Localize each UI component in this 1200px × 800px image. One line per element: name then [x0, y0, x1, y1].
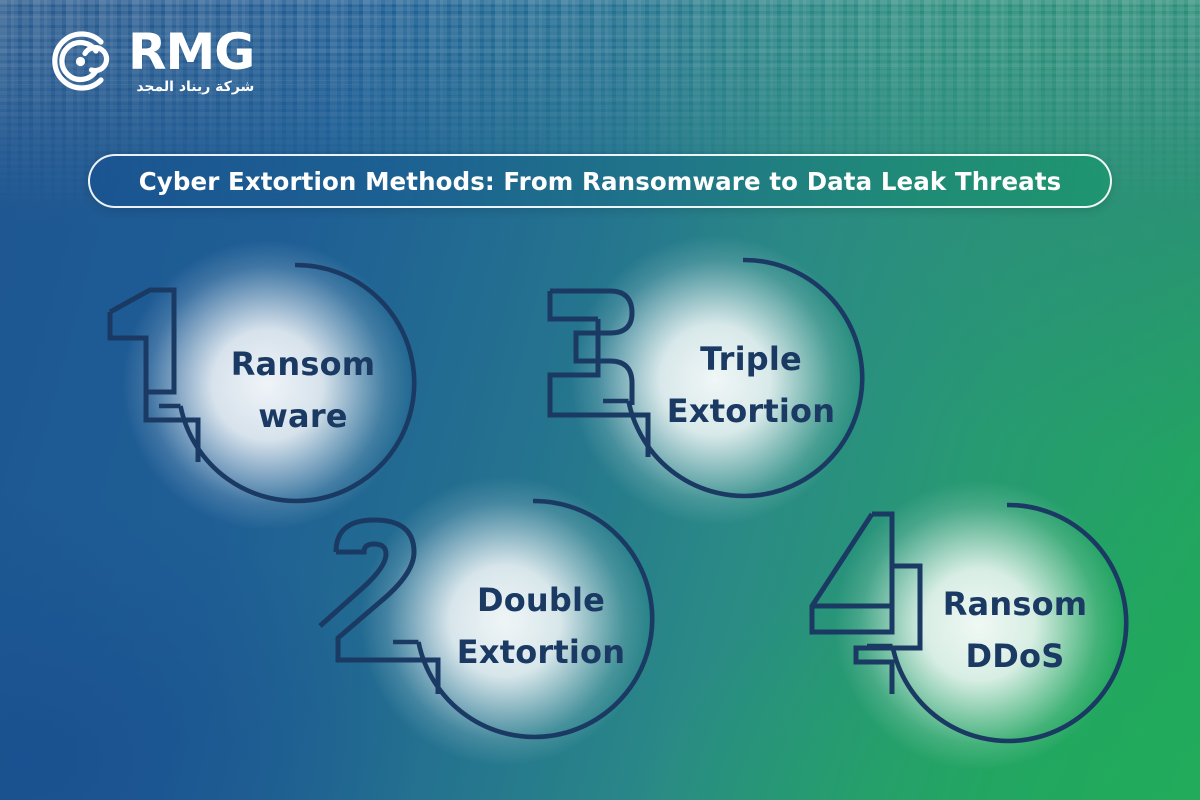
node-label-line: ware: [258, 391, 347, 443]
node-label-1: Ransom ware: [178, 316, 428, 466]
rmg-spiral-logo-icon: [44, 26, 114, 96]
node-label-line: Extortion: [457, 627, 625, 679]
logo-wordmark: RMG: [128, 27, 254, 77]
node-ransom-ddos: Ransom DDoS: [862, 498, 1162, 768]
logo-arabic-subtitle: شركة ريناد المجد: [136, 78, 254, 96]
node-label-2: Double Extortion: [416, 552, 666, 702]
node-label-line: Ransom: [231, 339, 376, 391]
node-label-line: Triple: [700, 334, 802, 386]
infographic-canvas: RMG شركة ريناد المجد Cyber Extortion Met…: [0, 0, 1200, 800]
node-label-line: Ransom: [943, 579, 1088, 631]
logo-text-block: RMG شركة ريناد المجد: [128, 27, 254, 96]
title-banner: Cyber Extortion Methods: From Ransomware…: [88, 154, 1112, 208]
node-label-3: Triple Extortion: [626, 311, 876, 461]
node-label-line: Extortion: [667, 386, 835, 438]
node-label-line: Double: [477, 575, 605, 627]
node-triple-extortion: Triple Extortion: [598, 253, 898, 523]
brand-logo: RMG شركة ريناد المجد: [44, 26, 254, 96]
page-title: Cyber Extortion Methods: From Ransomware…: [139, 167, 1062, 196]
node-ransomware: Ransom ware: [150, 258, 450, 528]
node-label-line: DDoS: [966, 631, 1065, 683]
node-double-extortion: Double Extortion: [388, 494, 688, 764]
node-label-4: Ransom DDoS: [890, 556, 1140, 706]
